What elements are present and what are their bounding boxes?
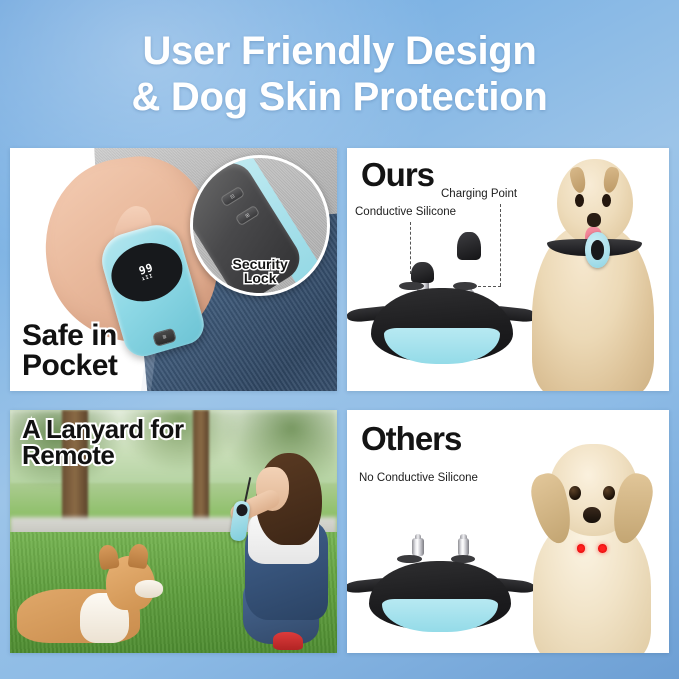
remote-lcd-screen: 99 ıII <box>105 235 190 310</box>
metal-contact-point-left <box>412 538 424 556</box>
corgi-dog <box>17 556 161 643</box>
feature-panel-grid: 99 ıII ≣ ⊟ ⊞ Security Lock Safe in Pocke… <box>10 148 669 653</box>
label-conductive-silicone: Conductive Silicone <box>355 206 456 218</box>
label-charging-point: Charging Point <box>441 188 517 200</box>
security-lock-label: Security Lock <box>193 257 328 285</box>
panel-lanyard-for-remote: A Lanyard for Remote <box>10 410 337 653</box>
prong-bare-metal-left <box>409 527 427 556</box>
panel-others: Others No Conductive Silicone <box>347 410 669 653</box>
panel-safe-in-pocket: 99 ıII ≣ ⊟ ⊞ Security Lock Safe in Pocke… <box>10 148 337 391</box>
header-banner: User Friendly Design & Dog Skin Protecti… <box>0 0 679 148</box>
skin-irritation-marker-left <box>577 544 585 552</box>
label-no-conductive-silicone: No Conductive Silicone <box>359 472 478 484</box>
dog-ear-left <box>568 166 587 194</box>
panel-title-lanyard: A Lanyard for Remote <box>22 416 184 468</box>
panel-title-others: Others <box>361 420 461 458</box>
device-ours <box>371 242 513 362</box>
device-teal-accent <box>384 328 500 364</box>
device-others <box>369 518 511 630</box>
dog-nose <box>587 213 601 227</box>
lcd-readout: 99 ıII <box>138 262 157 283</box>
collar-receiver-icon <box>585 232 609 268</box>
lcd-signal-bars: ıII <box>141 273 156 282</box>
panel-title-safe-in-pocket: Safe in Pocket <box>22 321 117 381</box>
device-teal-accent <box>382 599 498 633</box>
woman-red-sneaker <box>273 632 303 650</box>
puppy-photo <box>515 444 669 653</box>
golden-retriever-photo <box>517 154 669 391</box>
woman-training-dog <box>193 449 330 648</box>
park-photo: A Lanyard for Remote <box>10 410 337 653</box>
dog-ear-right <box>601 166 620 194</box>
conductive-silicone-cap <box>411 262 434 283</box>
dog-eye-left <box>575 194 584 207</box>
panel-ours: Ours Conductive Silicone Charging Point <box>347 148 669 391</box>
corgi-snout <box>135 580 164 597</box>
panel-title-ours: Ours <box>361 156 434 194</box>
prong-bare-metal-right <box>454 527 472 556</box>
page-title-line-1: User Friendly Design <box>142 28 536 74</box>
mode-button-icon: ≣ <box>153 328 177 347</box>
skin-irritation-marker-right <box>598 544 606 552</box>
security-lock-callout-bubble: ⊟ ⊞ Security Lock <box>190 155 331 296</box>
pocket-photo: 99 ıII ≣ ⊟ ⊞ Security Lock Safe in Pocke… <box>10 148 337 391</box>
page-title-line-2: & Dog Skin Protection <box>132 74 548 120</box>
metal-contact-point-right <box>458 538 470 556</box>
